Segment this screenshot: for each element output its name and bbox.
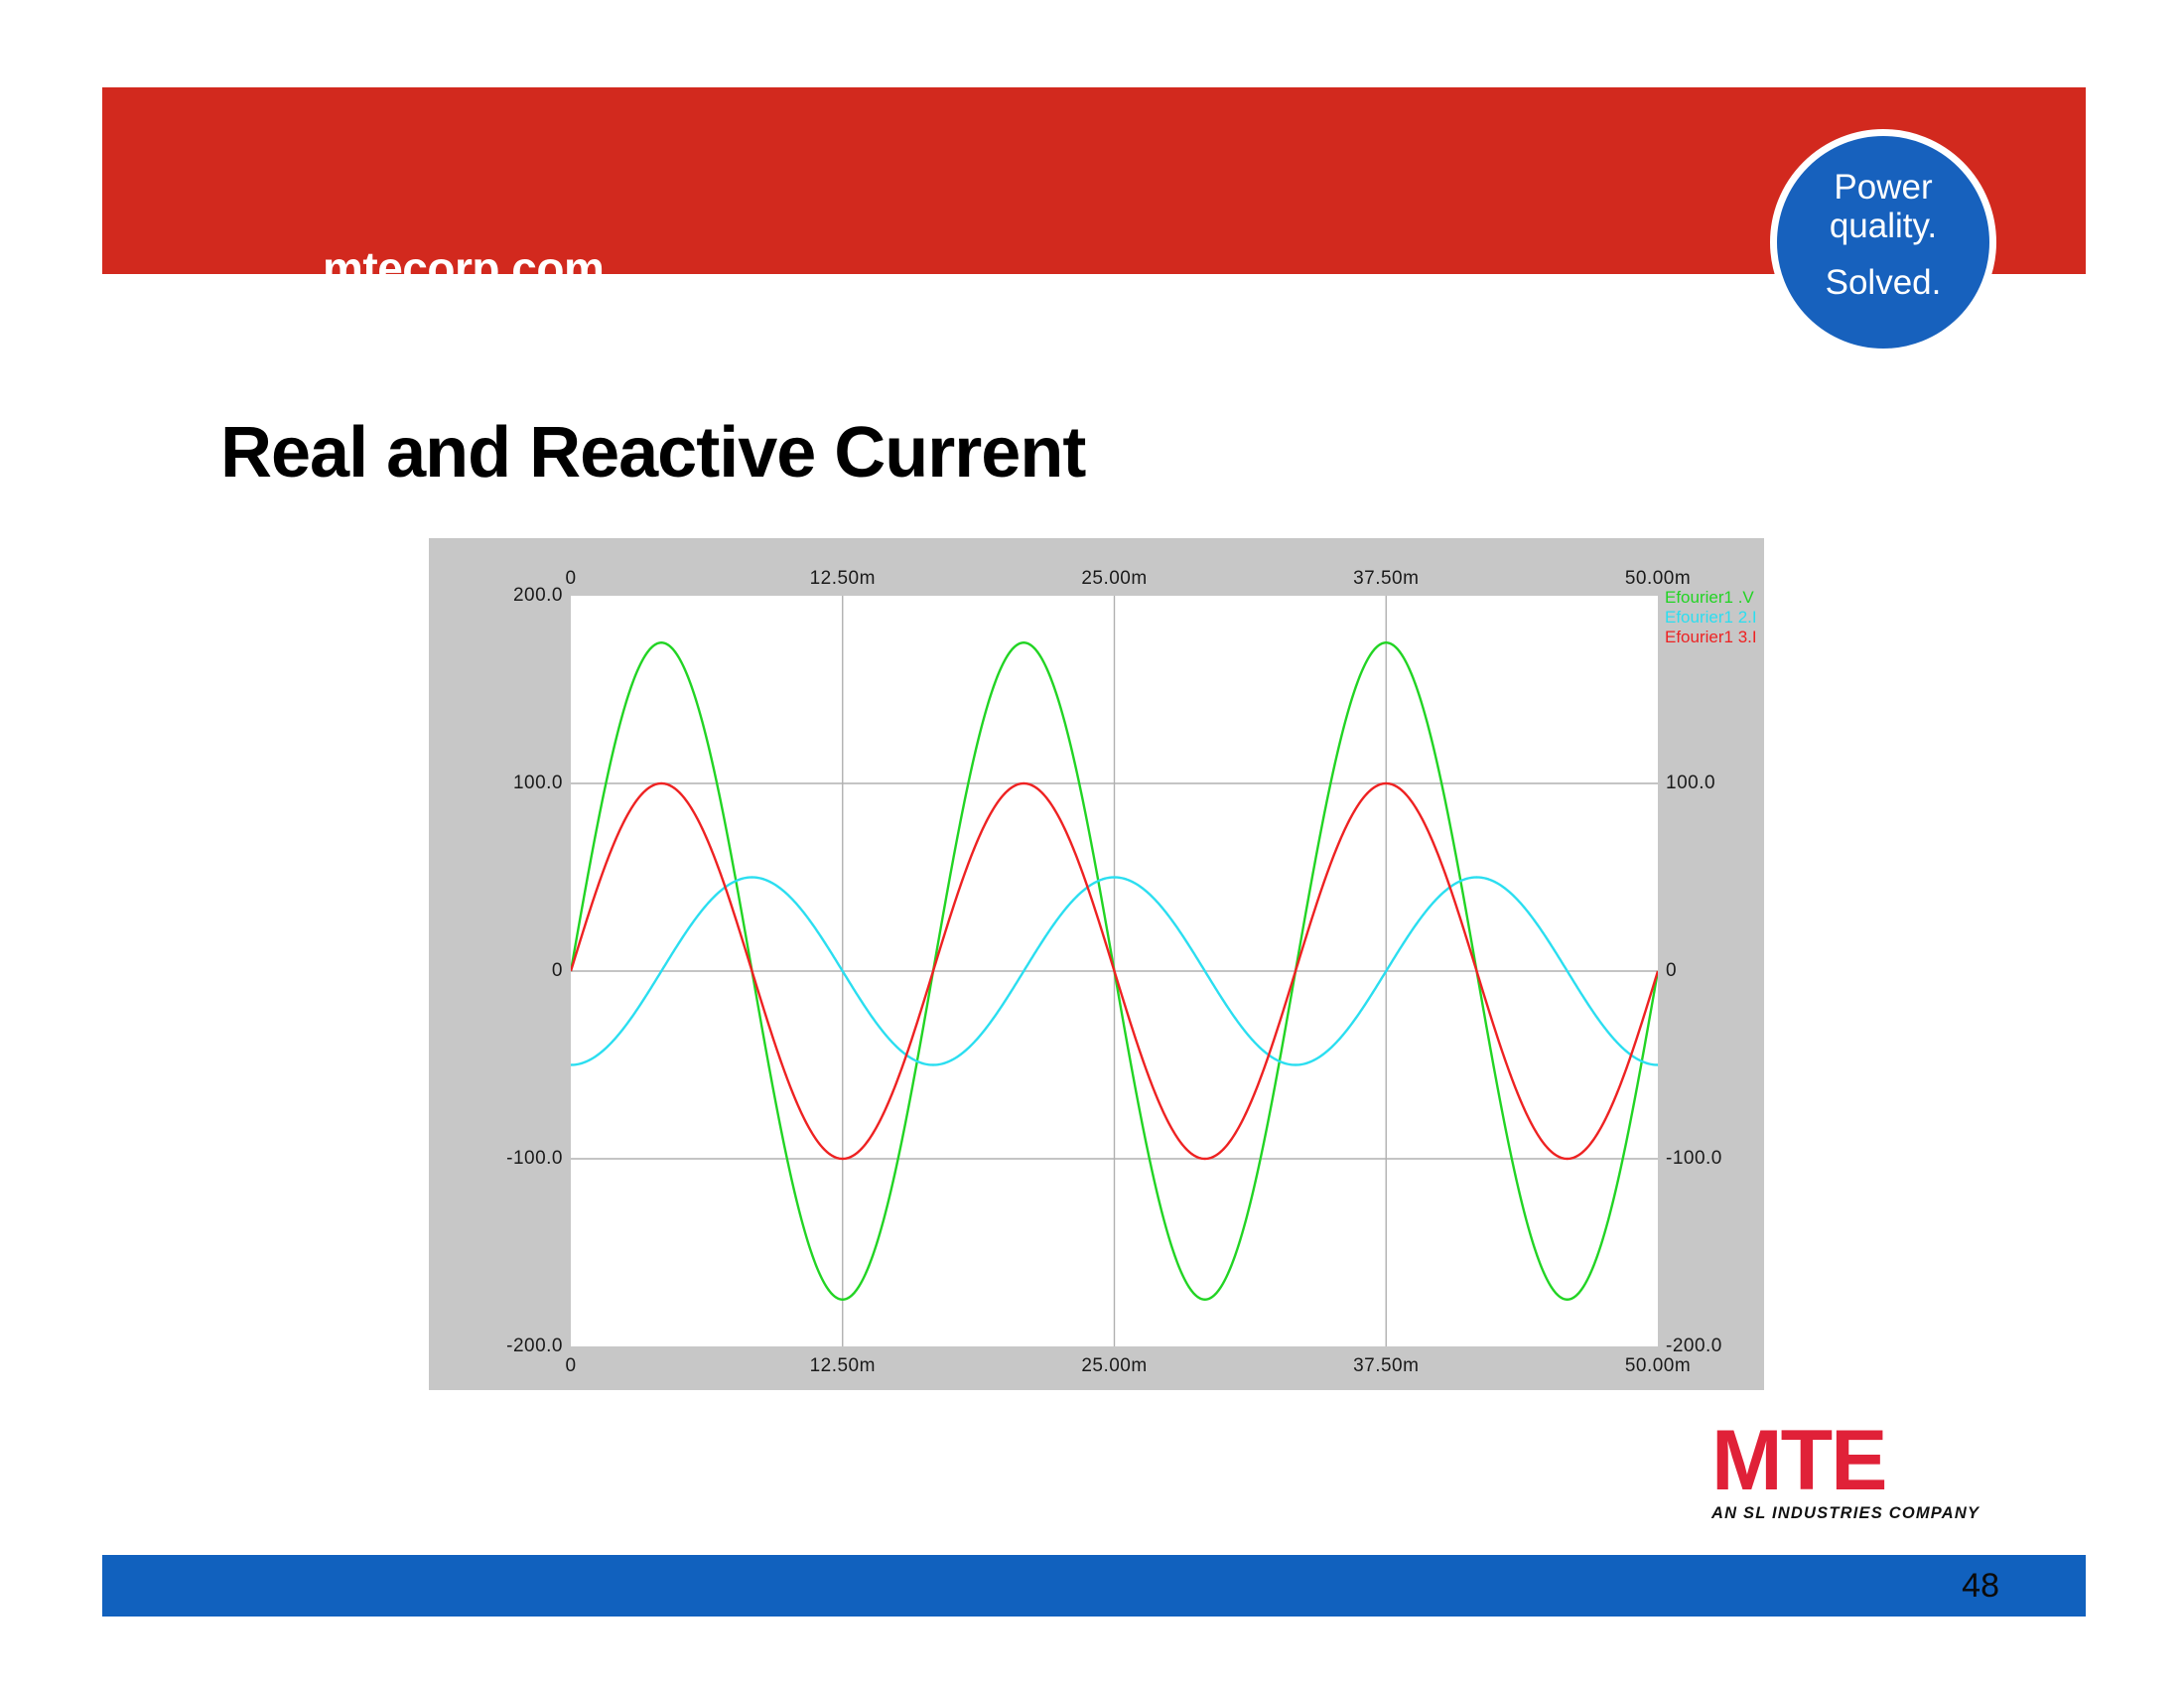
- page-title: Real and Reactive Current: [220, 412, 1085, 493]
- chart-legend: Efourier1 .VEfourier1 2.IEfourier1 3.I: [1665, 588, 1757, 647]
- badge-line-1: Power quality.: [1777, 168, 1989, 245]
- y-axis-tick-left: -200.0: [506, 1336, 563, 1357]
- badge-line-2: Solved.: [1777, 263, 1989, 302]
- slide-canvas: mtecorp.com Power quality. Solved. Real …: [0, 0, 2184, 1688]
- chart-container: 012.50m25.00m37.50m50.00m012.50m25.00m37…: [429, 538, 1764, 1390]
- y-axis-tick-right: 100.0: [1666, 773, 1715, 794]
- x-axis-tick-bottom: 37.50m: [1353, 1355, 1419, 1377]
- mte-logo: MTE AN SL INDUSTRIES COMPANY: [1711, 1420, 2019, 1524]
- x-axis-tick-top: 0: [565, 568, 576, 590]
- mte-wordmark: MTE: [1711, 1420, 2019, 1501]
- y-axis-tick-left: 100.0: [513, 773, 563, 794]
- legend-entry: Efourier1 3.I: [1665, 628, 1757, 647]
- y-axis-tick-left: -100.0: [506, 1148, 563, 1170]
- x-axis-tick-top: 50.00m: [1625, 568, 1691, 590]
- x-axis-tick-top: 37.50m: [1353, 568, 1419, 590]
- x-axis-tick-bottom: 50.00m: [1625, 1355, 1691, 1377]
- x-axis-tick-bottom: 12.50m: [810, 1355, 876, 1377]
- x-axis-tick-top: 25.00m: [1081, 568, 1147, 590]
- x-axis-tick-top: 12.50m: [810, 568, 876, 590]
- x-axis-tick-bottom: 0: [565, 1355, 576, 1377]
- power-quality-badge: Power quality. Solved.: [1770, 129, 1996, 355]
- chart-svg: [571, 596, 1658, 1346]
- y-axis-tick-right: 0: [1666, 960, 1677, 982]
- legend-entry: Efourier1 .V: [1665, 588, 1757, 608]
- y-axis-tick-right: -200.0: [1666, 1336, 1722, 1357]
- chart-plot-area: [571, 596, 1658, 1346]
- site-url-text: mtecorp.com: [323, 241, 604, 295]
- y-axis-tick-right: -100.0: [1666, 1148, 1722, 1170]
- legend-entry: Efourier1 2.I: [1665, 608, 1757, 628]
- y-axis-tick-left: 0: [552, 960, 563, 982]
- y-axis-tick-left: 200.0: [513, 585, 563, 607]
- mte-tagline: AN SL INDUSTRIES COMPANY: [1711, 1503, 2019, 1523]
- page-number: 48: [1962, 1567, 1999, 1606]
- footer-band: [102, 1555, 2086, 1617]
- x-axis-tick-bottom: 25.00m: [1081, 1355, 1147, 1377]
